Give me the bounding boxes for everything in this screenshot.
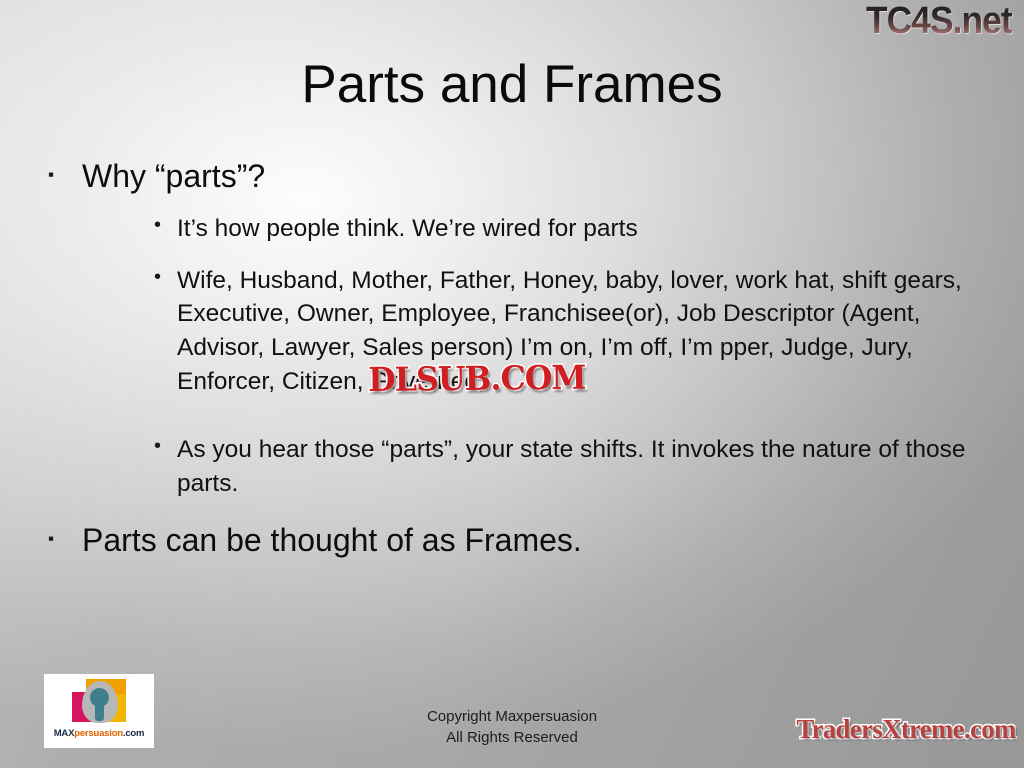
- spacer: [154, 417, 974, 433]
- logo-word-com: .com: [123, 728, 144, 739]
- square-bullet-icon: ▪: [48, 158, 82, 191]
- bullet-level2-text: It’s how people think. We’re wired for p…: [177, 212, 974, 246]
- bullet-level1-parts-frames: ▪ Parts can be thought of as Frames.: [48, 522, 988, 560]
- dot-bullet-icon: •: [154, 264, 177, 290]
- tc4s-brand-logo: TC4S.net: [866, 2, 1012, 40]
- logo-keyhole-stem: [95, 701, 104, 721]
- keyhole-head-icon: [70, 678, 128, 723]
- bullet-level1-text: Why “parts”?: [82, 158, 988, 196]
- logo-word-max: MAX: [54, 728, 75, 739]
- presentation-slide: TC4S.net Parts and Frames ▪ Why “parts”?…: [0, 0, 1024, 768]
- dot-bullet-icon: •: [154, 433, 177, 459]
- slide-title: Parts and Frames: [0, 57, 1024, 113]
- bullet-level1-text: Parts can be thought of as Frames.: [82, 522, 988, 560]
- bullet-level2-item: • It’s how people think. We’re wired for…: [154, 212, 974, 246]
- logo-wordmark: MAXpersuasion.com: [54, 728, 145, 739]
- logo-word-persuasion: persuasion: [74, 728, 123, 739]
- dot-bullet-icon: •: [154, 212, 177, 238]
- bullet-level1-why-parts: ▪ Why “parts”?: [48, 158, 988, 196]
- dlsub-watermark-text: DLSUB.COM: [368, 358, 586, 399]
- dlsub-watermark: DLSUB.COM: [368, 361, 586, 396]
- bullet-level2-item: • As you hear those “parts”, your state …: [154, 433, 974, 501]
- sub-bullet-list: • It’s how people think. We’re wired for…: [154, 212, 974, 501]
- maxpersuasion-logo: MAXpersuasion.com: [44, 674, 154, 748]
- bullet-level2-text: As you hear those “parts”, your state sh…: [177, 433, 974, 501]
- square-bullet-icon: ▪: [48, 522, 82, 555]
- tradersxtreme-brand-logo: TradersXtreme.com: [797, 716, 1016, 743]
